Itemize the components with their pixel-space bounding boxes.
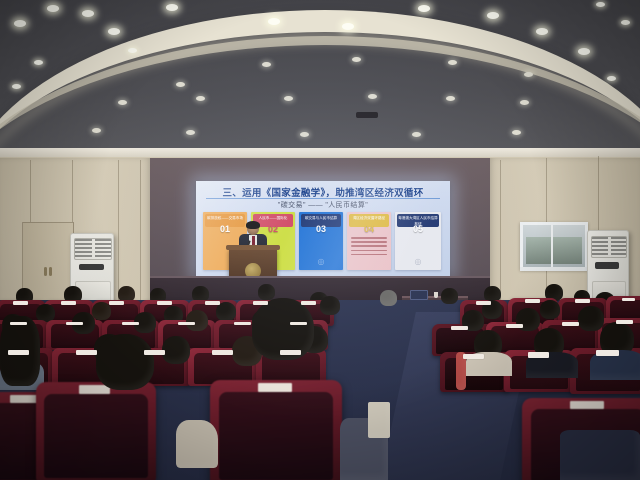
ceiling-light (47, 5, 59, 12)
ceiling-light (300, 132, 309, 137)
foreground-seat (210, 380, 342, 480)
seat-number-tag (66, 322, 83, 326)
ac-vent-grill (74, 238, 111, 259)
ceiling-light (108, 28, 120, 35)
seat-number-tag (258, 383, 292, 392)
wall-panel-seam (140, 160, 141, 305)
ceiling-light (352, 57, 361, 62)
cup (434, 292, 438, 298)
seat-number-tag (596, 350, 619, 356)
door-handle[interactable] (49, 267, 52, 276)
seat-number-tag (570, 401, 604, 409)
seat-number-tag (144, 350, 165, 355)
slide-card-watermark: ◎ (299, 257, 343, 266)
ceiling-light (596, 2, 605, 7)
wall-cornice (0, 148, 640, 157)
seat-number-tag (562, 322, 579, 326)
audience-body (560, 430, 640, 480)
seat-number-tag (178, 322, 195, 326)
slide-card-04: 湾区经济双循环路径 04 (347, 212, 391, 270)
audience-head (540, 300, 560, 319)
seat-number-tag (280, 350, 301, 355)
ceiling-light (128, 48, 137, 53)
seat-number-tag (122, 322, 139, 326)
ac-display-panel (79, 264, 104, 271)
seat-number-tag (525, 299, 540, 303)
audience-head (92, 302, 111, 320)
ceiling-light (621, 20, 630, 25)
seat-number-tag (109, 301, 124, 304)
projector-unit (356, 112, 378, 118)
seat-number-tag (528, 352, 549, 357)
slide-card-03: 碳交易与人民币结算 03 ◎ (299, 212, 343, 270)
ceiling (0, 0, 640, 172)
paper-bag (368, 402, 390, 438)
ac-vent-grill (591, 236, 627, 258)
wall-panel-seam (118, 160, 119, 310)
window-right (520, 222, 588, 270)
slide-title-rule (206, 198, 440, 199)
seat-number-tag (463, 354, 483, 359)
seat-number-tag (622, 298, 636, 302)
seat-number-tag (13, 301, 28, 304)
slide-card-05: 粤港澳大湾区人民币结算枢纽 05 ◎ (395, 212, 441, 270)
seat-number-tag (234, 322, 251, 326)
ceiling-light (284, 96, 293, 101)
laptop (410, 290, 428, 300)
audience-head (186, 310, 208, 331)
ceiling-light (520, 100, 529, 105)
audience-arm (176, 420, 218, 468)
slide-card-watermark: ◎ (395, 257, 441, 266)
ceiling-light (524, 72, 533, 77)
ceiling-light (368, 94, 377, 99)
seat-number-tag (10, 322, 27, 326)
seat-number-tag (76, 350, 97, 355)
ceiling-light (166, 4, 178, 11)
ceiling-light (82, 10, 94, 17)
seat-number-tag (575, 299, 590, 303)
ceiling-light (342, 23, 354, 30)
ceiling-light (512, 130, 521, 135)
slide-card-bullets (351, 237, 388, 258)
slide-card-number: 05 (395, 224, 441, 234)
ceiling-light (487, 12, 499, 19)
ceiling-light (262, 62, 271, 67)
ceiling-light (186, 130, 195, 135)
ceiling-light (536, 28, 548, 35)
window-view (526, 237, 582, 264)
audience-head (578, 306, 604, 331)
seat-number-tag (205, 301, 220, 304)
slide-card-number: 03 (299, 224, 343, 234)
window-sill (520, 267, 588, 271)
seat-number-tag (451, 326, 468, 330)
audience-head (380, 290, 397, 306)
seat-number-tag (8, 350, 29, 355)
seat-number-tag (253, 301, 268, 304)
wall-panel-seam (500, 160, 501, 310)
audience-head (441, 288, 458, 304)
ceiling-light (607, 76, 616, 81)
ceiling-light (34, 60, 43, 65)
slide-subtitle: "碳交易" —— "人民币结算" (204, 200, 442, 210)
ceiling-light (92, 128, 101, 133)
seat-number-tag (476, 301, 490, 304)
ceiling-light (268, 18, 280, 25)
ceiling-light (446, 96, 455, 101)
ceiling-light (14, 20, 26, 27)
seat-number-tag (157, 301, 172, 304)
ac-display-panel (595, 262, 619, 269)
ceiling-light (448, 60, 457, 65)
foreground-seat (36, 382, 156, 480)
seat-number-tag (616, 320, 632, 325)
ceiling-light (176, 82, 185, 87)
seat-number-tag (506, 324, 523, 328)
ceiling-light (196, 96, 205, 101)
ceiling-light (412, 132, 421, 137)
seat-number-tag (301, 301, 316, 304)
door-handle[interactable] (44, 267, 47, 276)
ceiling-light (418, 5, 430, 12)
ceiling-light (12, 84, 21, 89)
audience-head (258, 284, 275, 300)
podium-top (226, 245, 280, 250)
audience-head (162, 336, 190, 364)
seat-number-tag (212, 350, 233, 355)
audience-head-foreground (96, 334, 154, 390)
lecture-hall-photo: 三、运用《国家金融学》，助推湾区经济双循环 "碳交易" —— "人民币结算" 碳… (0, 0, 640, 480)
slide-card-number: 04 (347, 224, 391, 234)
presenter-hair (246, 221, 260, 229)
seat-number-tag (290, 322, 307, 326)
audience-head (216, 302, 236, 321)
seat-number-tag (61, 301, 76, 304)
ceiling-light (118, 100, 127, 105)
ceiling-light (578, 48, 590, 55)
audience-head (320, 296, 340, 315)
slide-title: 三、运用《国家金融学》，助推湾区经济双循环 (204, 185, 442, 199)
window-mullion (551, 225, 553, 267)
